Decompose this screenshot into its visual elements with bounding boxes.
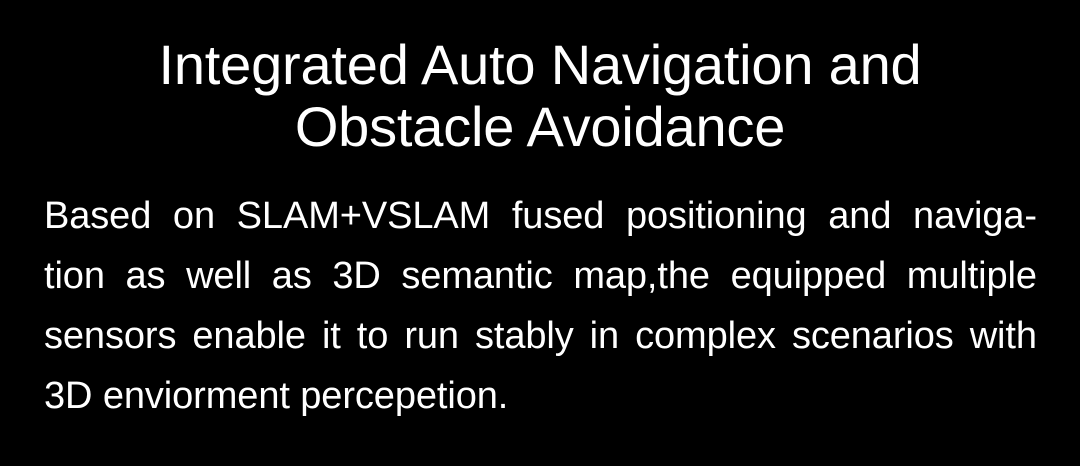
body-word: run — [404, 306, 459, 366]
body-line-3: sensors enable it to run stably in compl… — [44, 306, 1037, 366]
body-word: it — [322, 306, 341, 366]
body-word: SLAM+VSLAM — [237, 186, 491, 246]
body-word: 3D enviorment percepetion. — [44, 366, 508, 426]
body-word: tion — [44, 246, 105, 306]
body-word: as — [126, 246, 166, 306]
body-word: well — [186, 246, 251, 306]
body-word: scenarios — [792, 306, 954, 366]
body-word: 3D — [332, 246, 380, 306]
body-word: sensors — [44, 306, 176, 366]
body-word: semantic — [401, 246, 552, 306]
body-word: as — [272, 246, 312, 306]
page-title: Integrated Auto Navigation and Obstacle … — [0, 34, 1080, 158]
body-word: enable — [192, 306, 306, 366]
body-word: positioning — [626, 186, 807, 246]
body-word: multiple — [907, 246, 1037, 306]
body-line-4: 3D enviorment percepetion. — [44, 366, 1037, 426]
body-word: naviga- — [913, 186, 1037, 246]
body-word: in — [590, 306, 619, 366]
body-word: complex — [635, 306, 776, 366]
body-word: Based — [44, 186, 151, 246]
title-line-1: Integrated Auto Navigation and — [0, 34, 1080, 96]
body-word: on — [173, 186, 215, 246]
body-paragraph: Based on SLAM+VSLAM fused positioning an… — [44, 186, 1037, 426]
body-line-2: tion as well as 3D semantic map,the equi… — [44, 246, 1037, 306]
body-word: map,the — [573, 246, 710, 306]
slide-root: Integrated Auto Navigation and Obstacle … — [0, 0, 1080, 466]
body-text: Based on SLAM+VSLAM fused positioning an… — [44, 186, 1037, 426]
body-line-1: Based on SLAM+VSLAM fused positioning an… — [44, 186, 1037, 246]
body-word: fused — [512, 186, 604, 246]
body-word: with — [970, 306, 1037, 366]
title-line-2: Obstacle Avoidance — [0, 96, 1080, 158]
body-word: to — [357, 306, 389, 366]
body-word: equipped — [731, 246, 887, 306]
body-word: and — [828, 186, 891, 246]
body-word: stably — [475, 306, 574, 366]
